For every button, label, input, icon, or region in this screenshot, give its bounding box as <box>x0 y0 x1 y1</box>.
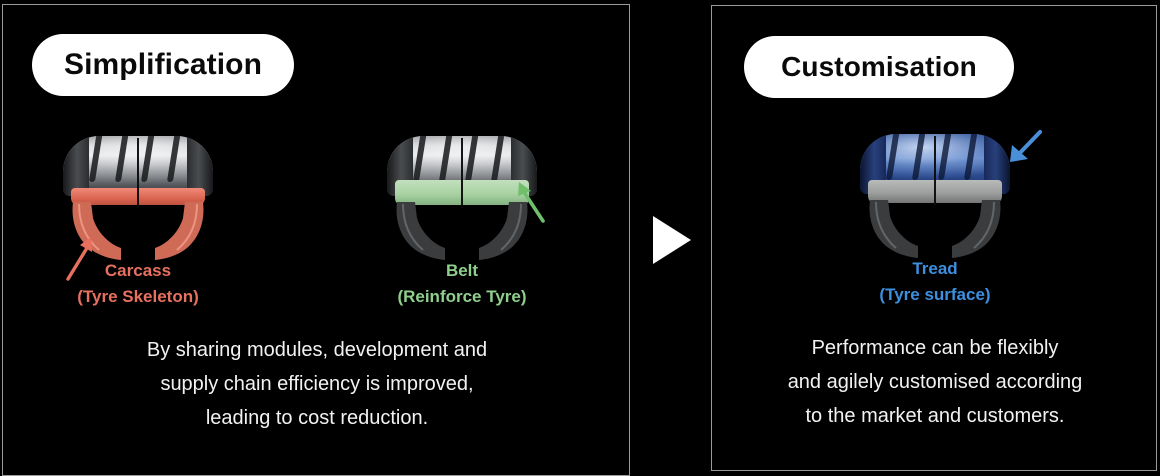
tyre-sidewall-left <box>393 202 449 260</box>
simplification-body-text: By sharing modules, development and supp… <box>39 333 595 435</box>
customisation-heading-pill: Customisation <box>744 36 1014 98</box>
simplification-panel: Simplification <box>2 4 630 476</box>
carcass-label-line2: (Tyre Skeleton) <box>11 284 265 310</box>
simplification-heading-text: Simplification <box>64 48 262 82</box>
carcass-label-line1: Carcass <box>11 258 265 284</box>
belt-label-line1: Belt <box>335 258 589 284</box>
slide-canvas: Simplification <box>0 0 1160 476</box>
tyre-sidewall-right <box>151 202 207 260</box>
down-left-arrow-icon <box>1000 124 1048 172</box>
play-triangle-icon <box>653 216 691 264</box>
tread-label-line2: (Tyre surface) <box>808 282 1062 308</box>
customisation-panel: Customisation <box>711 5 1157 471</box>
carcass-label: Carcass (Tyre Skeleton) <box>11 258 265 310</box>
customisation-heading-text: Customisation <box>781 51 977 83</box>
belt-label: Belt (Reinforce Tyre) <box>335 258 589 310</box>
customisation-body-text: Performance can be flexibly and agilely … <box>734 331 1136 433</box>
tyre-figure-tread <box>860 134 1010 259</box>
up-left-arrow-icon <box>509 177 551 225</box>
tyre-sidewall-left <box>866 200 922 258</box>
simplification-heading-pill: Simplification <box>32 34 294 96</box>
belt-label-line2: (Reinforce Tyre) <box>335 284 589 310</box>
tyre-centre-split <box>461 138 463 208</box>
tread-label-line1: Tread <box>808 256 1062 282</box>
tyre-centre-split <box>934 136 936 206</box>
tread-label: Tread (Tyre surface) <box>808 256 1062 308</box>
tyre-sidewall-right <box>948 200 1004 258</box>
tyre-centre-split <box>137 138 139 208</box>
